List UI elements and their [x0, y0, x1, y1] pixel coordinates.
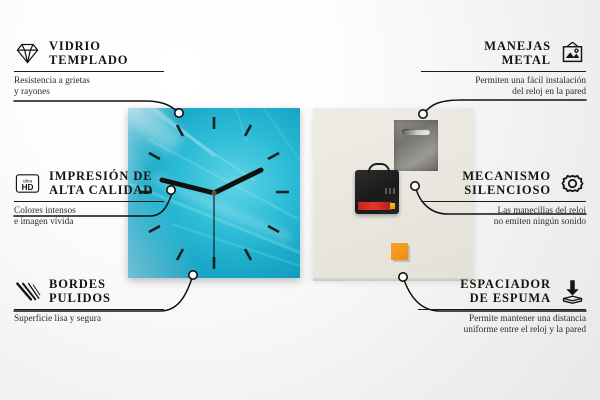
mechanism-hanger-loop: [368, 163, 390, 175]
foam-spacer-pad: [391, 243, 408, 260]
mechanism-label: [385, 188, 395, 194]
diamond-icon: [14, 40, 41, 67]
feature-subtitle: Permiten una fácil instalación del reloj…: [421, 76, 586, 99]
divider: [14, 201, 164, 202]
metal-hanger-plate: [394, 120, 438, 171]
feature-foam-spacer: ESPACIADOR DE ESPUMA Permite mantener un…: [418, 278, 586, 337]
divider: [14, 309, 164, 310]
aa-battery: [358, 202, 392, 210]
hour-hand: [162, 180, 214, 193]
feature-subtitle: Resistencia a grietas y rayones: [14, 76, 164, 99]
feature-heading: VIDRIO TEMPLADO: [14, 40, 164, 67]
feature-subtitle: Superficie lisa y segura: [14, 314, 164, 325]
feature-heading: ultra HD IMPRESIÓN DE ALTA CALIDAD: [14, 170, 164, 197]
feature-title: MECANISMO SILENCIOSO: [462, 170, 551, 197]
feature-high-quality-print: ultra HD IMPRESIÓN DE ALTA CALIDAD Color…: [14, 170, 164, 229]
feature-title: BORDES PULIDOS: [49, 278, 111, 305]
feature-heading: MECANISMO SILENCIOSO: [421, 170, 586, 197]
feature-title: MANEJAS METAL: [484, 40, 551, 67]
silent-quartz-mechanism: [355, 170, 399, 214]
svg-text:HD: HD: [22, 183, 34, 192]
feature-silent-mechanism: MECANISMO SILENCIOSO Las manecillas del …: [421, 170, 586, 229]
divider: [421, 71, 586, 72]
hand-cap: [211, 190, 216, 195]
hanger-slot: [402, 129, 430, 135]
wall-frame-icon: [559, 40, 586, 67]
feature-heading: ESPACIADOR DE ESPUMA: [418, 278, 586, 305]
feature-title: IMPRESIÓN DE ALTA CALIDAD: [49, 170, 153, 197]
foam-spacer-icon: [559, 278, 586, 305]
feature-title: VIDRIO TEMPLADO: [49, 40, 128, 67]
feature-subtitle: Las manecillas del reloj no emiten ningú…: [421, 206, 586, 229]
feature-metal-hangers: MANEJAS METAL Permiten una fácil instala…: [421, 40, 586, 99]
feature-polished-edges: BORDES PULIDOS Superficie lisa y segura: [14, 278, 164, 325]
feature-subtitle: Permite mantener una distancia uniforme …: [418, 314, 586, 337]
polished-edges-icon: [14, 278, 41, 305]
divider: [14, 71, 164, 72]
divider: [421, 201, 586, 202]
feature-subtitle: Colores intensos e imagen vívida: [14, 206, 164, 229]
feature-heading: MANEJAS METAL: [421, 40, 586, 67]
divider: [418, 309, 586, 310]
gear-icon: [559, 170, 586, 197]
feature-heading: BORDES PULIDOS: [14, 278, 164, 305]
ultra-hd-icon: ultra HD: [14, 170, 41, 197]
minute-hand: [214, 170, 261, 193]
infographic-canvas: VIDRIO TEMPLADO Resistencia a grietas y …: [0, 0, 600, 400]
feature-tempered-glass: VIDRIO TEMPLADO Resistencia a grietas y …: [14, 40, 164, 99]
feature-title: ESPACIADOR DE ESPUMA: [460, 278, 551, 305]
